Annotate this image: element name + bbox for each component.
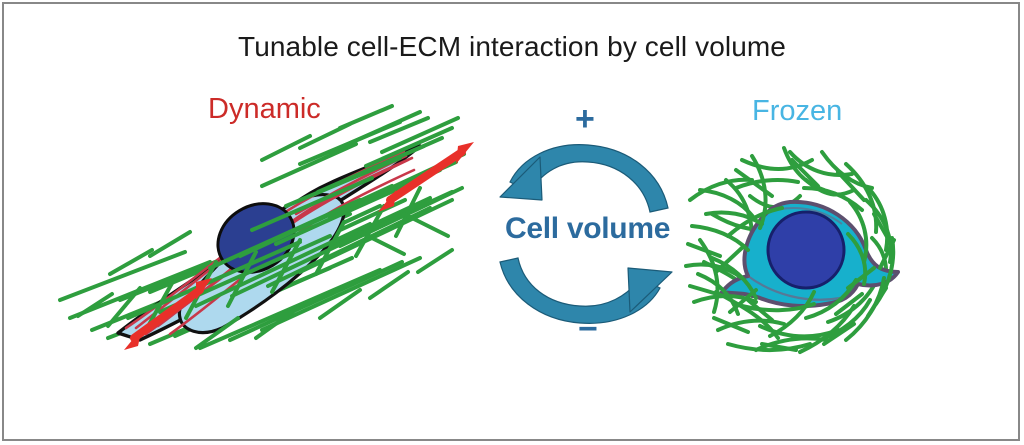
cycle-center-label: Cell volume [505,212,670,246]
panel-label-dynamic: Dynamic [208,93,321,126]
frozen-cell-nucleus [768,212,844,288]
left-panel-illustration [60,106,474,350]
panel-label-frozen: Frozen [752,95,842,128]
figure-root: Tunable cell-ECM interaction by cell vol… [0,0,1024,445]
curved-arrow-left-icon [500,145,668,212]
right-panel-illustration [686,148,898,352]
cycle-minus-sign: − [578,312,598,346]
figure-title: Tunable cell-ECM interaction by cell vol… [0,31,1024,63]
cycle-plus-sign: + [575,102,595,136]
